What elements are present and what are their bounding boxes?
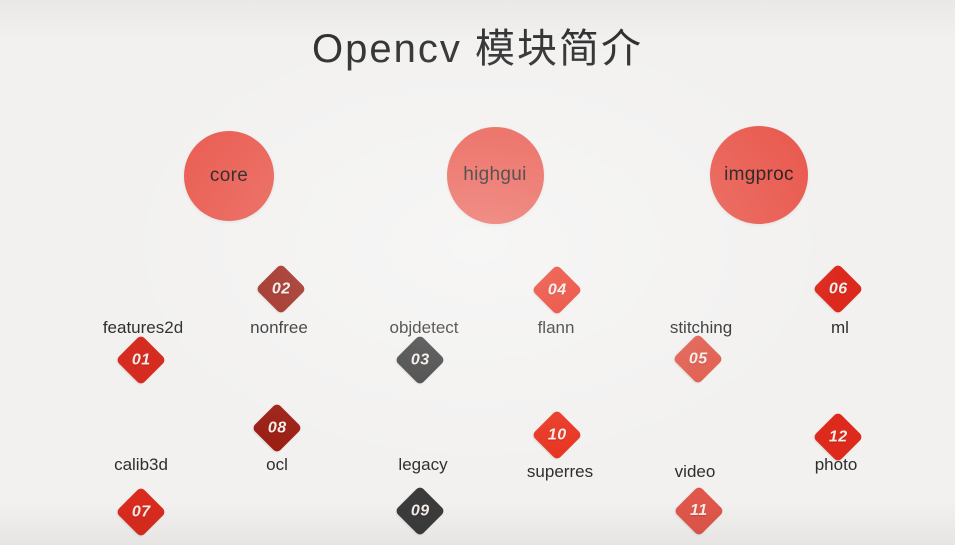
module-number: 03 [411, 352, 430, 368]
module-number: 09 [411, 503, 430, 519]
module-diamond-badge[interactable]: 06 [813, 264, 864, 315]
module-number: 11 [690, 503, 708, 519]
core-module-label: highgui [463, 164, 526, 186]
module-label: calib3d [114, 455, 168, 475]
core-module-label: core [210, 165, 248, 187]
core-module-circle[interactable]: highgui [447, 127, 544, 224]
module-diamond-badge[interactable]: 04 [532, 265, 583, 316]
module-diamond-badge[interactable]: 01 [116, 335, 167, 386]
module-label: photo [815, 455, 858, 475]
page-title: Opencv 模块简介 [0, 24, 955, 74]
module-number: 01 [132, 352, 151, 368]
core-module-circle[interactable]: imgproc [710, 126, 808, 224]
module-label: objdetect [390, 318, 459, 338]
slide-canvas: Opencv 模块简介 corehighguiimgproc 01feature… [0, 0, 955, 545]
module-number: 04 [548, 282, 567, 298]
module-diamond-badge[interactable]: 03 [395, 335, 446, 386]
module-number: 05 [689, 351, 708, 367]
module-number: 08 [268, 420, 287, 436]
module-label: superres [527, 462, 593, 482]
module-diamond-badge[interactable]: 09 [395, 486, 446, 537]
module-label: video [675, 462, 716, 482]
module-diamond-badge[interactable]: 10 [532, 410, 583, 461]
module-label: nonfree [250, 318, 308, 338]
core-module-circle[interactable]: core [184, 131, 274, 221]
module-label: features2d [103, 318, 183, 338]
module-number: 12 [829, 429, 848, 445]
module-diamond-badge[interactable]: 11 [674, 486, 725, 537]
module-label: legacy [398, 455, 447, 475]
module-number: 02 [272, 281, 291, 297]
module-number: 10 [548, 427, 567, 443]
module-number: 06 [829, 281, 848, 297]
module-diamond-badge[interactable]: 05 [673, 334, 724, 385]
module-diamond-badge[interactable]: 02 [256, 264, 307, 315]
module-diamond-badge[interactable]: 07 [116, 487, 167, 538]
module-diamond-badge[interactable]: 08 [252, 403, 303, 454]
core-module-label: imgproc [724, 164, 794, 186]
module-label: stitching [670, 318, 732, 338]
module-label: ocl [266, 455, 288, 475]
module-label: flann [538, 318, 575, 338]
module-label: ml [831, 318, 849, 338]
module-number: 07 [132, 504, 151, 520]
